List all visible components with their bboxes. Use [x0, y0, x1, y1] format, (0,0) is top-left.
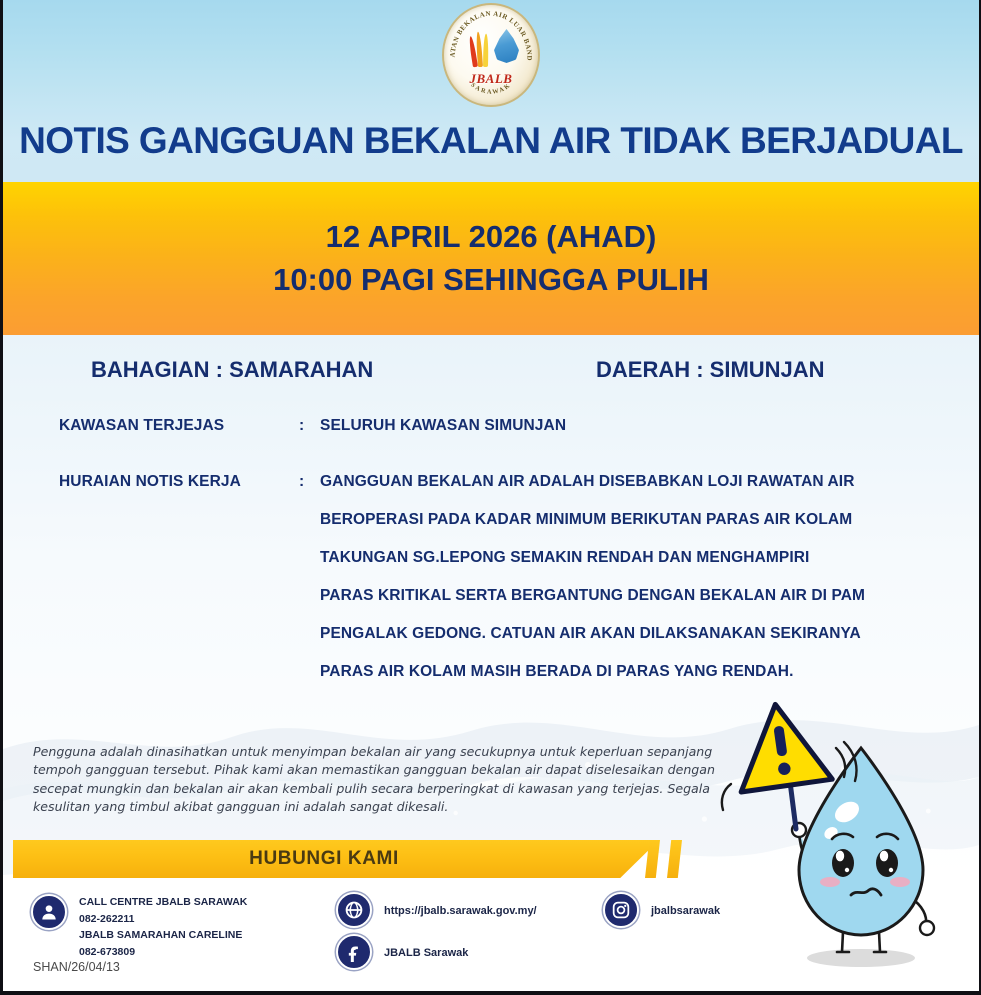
contacts-list: CALL CENTRE JBALB SARAWAK 082-262211 JBA…	[3, 888, 979, 995]
contact-bar-title: HUBUNGI KAMI	[249, 848, 399, 870]
huraian-line: GANGGUAN BEKALAN AIR ADALAH DISEBABKAN L…	[320, 463, 959, 501]
header-band: JABATAN BEKALAN AIR LUAR BANDAR SARAWAK …	[3, 0, 979, 182]
kawasan-terjejas-label: KAWASAN TERJEJAS	[59, 417, 299, 435]
globe-icon	[336, 892, 372, 928]
contact-facebook[interactable]: JBALB Sarawak	[336, 934, 468, 970]
flame-icon	[472, 27, 492, 67]
bar-slash-decoration	[667, 840, 682, 878]
contact-facebook-text: JBALB Sarawak	[384, 945, 468, 962]
daerah-label: DAERAH : SIMUNJAN	[596, 357, 825, 383]
bahagian-label: BAHAGIAN : SAMARAHAN	[91, 357, 373, 383]
contact-bar-wrapper: HUBUNGI KAMI	[13, 840, 733, 878]
notice-poster: JABATAN BEKALAN AIR LUAR BANDAR SARAWAK …	[0, 0, 981, 995]
huraian-line: TAKUNGAN SG.LEPONG SEMAKIN RENDAH DAN ME…	[320, 539, 959, 577]
huraian-notis-kerja-label: HURAIAN NOTIS KERJA	[59, 473, 299, 491]
contact-instagram-text: jbalbsarawak	[651, 903, 720, 920]
person-icon	[31, 894, 67, 930]
contact-call-centre[interactable]: CALL CENTRE JBALB SARAWAK 082-262211 JBA…	[31, 894, 247, 960]
huraian-notis-kerja-value: GANGGUAN BEKALAN AIR ADALAH DISEBABKAN L…	[320, 463, 959, 691]
facebook-icon	[336, 934, 372, 970]
notice-time: 10:00 PAGI SEHINGGA PULIH	[273, 261, 709, 300]
huraian-line: PARAS KRITIKAL SERTA BERGANTUNG DENGAN B…	[320, 577, 959, 615]
notice-date: 12 APRIL 2026 (AHAD)	[326, 218, 657, 257]
kawasan-terjejas-value: SELURUH KAWASAN SIMUNJAN	[320, 417, 959, 436]
disclaimer-text: Pengguna adalah dinasihatkan untuk menyi…	[33, 743, 723, 816]
contact-website[interactable]: https://jbalb.sarawak.gov.my/	[336, 892, 537, 928]
contact-website-text: https://jbalb.sarawak.gov.my/	[384, 903, 537, 920]
logo-oval: JABATAN BEKALAN AIR LUAR BANDAR SARAWAK …	[442, 3, 540, 107]
huraian-line: PENGALAK GEDONG. CATUAN AIR AKAN DILAKSA…	[320, 615, 959, 653]
instagram-icon	[603, 892, 639, 928]
document-reference-code: SHAN/26/04/13	[33, 960, 120, 974]
info-block: KAWASAN TERJEJAS : SELURUH KAWASAN SIMUN…	[3, 417, 979, 719]
body-area: BAHAGIAN : SAMARAHAN DAERAH : SIMUNJAN K…	[3, 335, 979, 995]
huraian-line: PARAS AIR KOLAM MASIH BERADA DI PARAS YA…	[320, 653, 959, 691]
kawasan-terjejas-colon: :	[299, 417, 304, 435]
huraian-line: BEROPERASI PADA KADAR MINIMUM BERIKUTAN …	[320, 501, 959, 539]
huraian-notis-kerja-row: HURAIAN NOTIS KERJA : GANGGUAN BEKALAN A…	[3, 471, 979, 701]
jbalb-logo: JABATAN BEKALAN AIR LUAR BANDAR SARAWAK …	[442, 3, 540, 107]
contact-bar: HUBUNGI KAMI	[13, 840, 659, 878]
contact-instagram[interactable]: jbalbsarawak	[603, 892, 720, 928]
date-band: 12 APRIL 2026 (AHAD) 10:00 PAGI SEHINGGA…	[3, 182, 979, 335]
page-title: NOTIS GANGGUAN BEKALAN AIR TIDAK BERJADU…	[3, 120, 979, 162]
contact-call-centre-text: CALL CENTRE JBALB SARAWAK 082-262211 JBA…	[79, 894, 247, 960]
logo-acronym: JBALB	[444, 71, 538, 87]
huraian-notis-kerja-colon: :	[299, 473, 304, 491]
kawasan-terjejas-row: KAWASAN TERJEJAS : SELURUH KAWASAN SIMUN…	[3, 417, 979, 453]
